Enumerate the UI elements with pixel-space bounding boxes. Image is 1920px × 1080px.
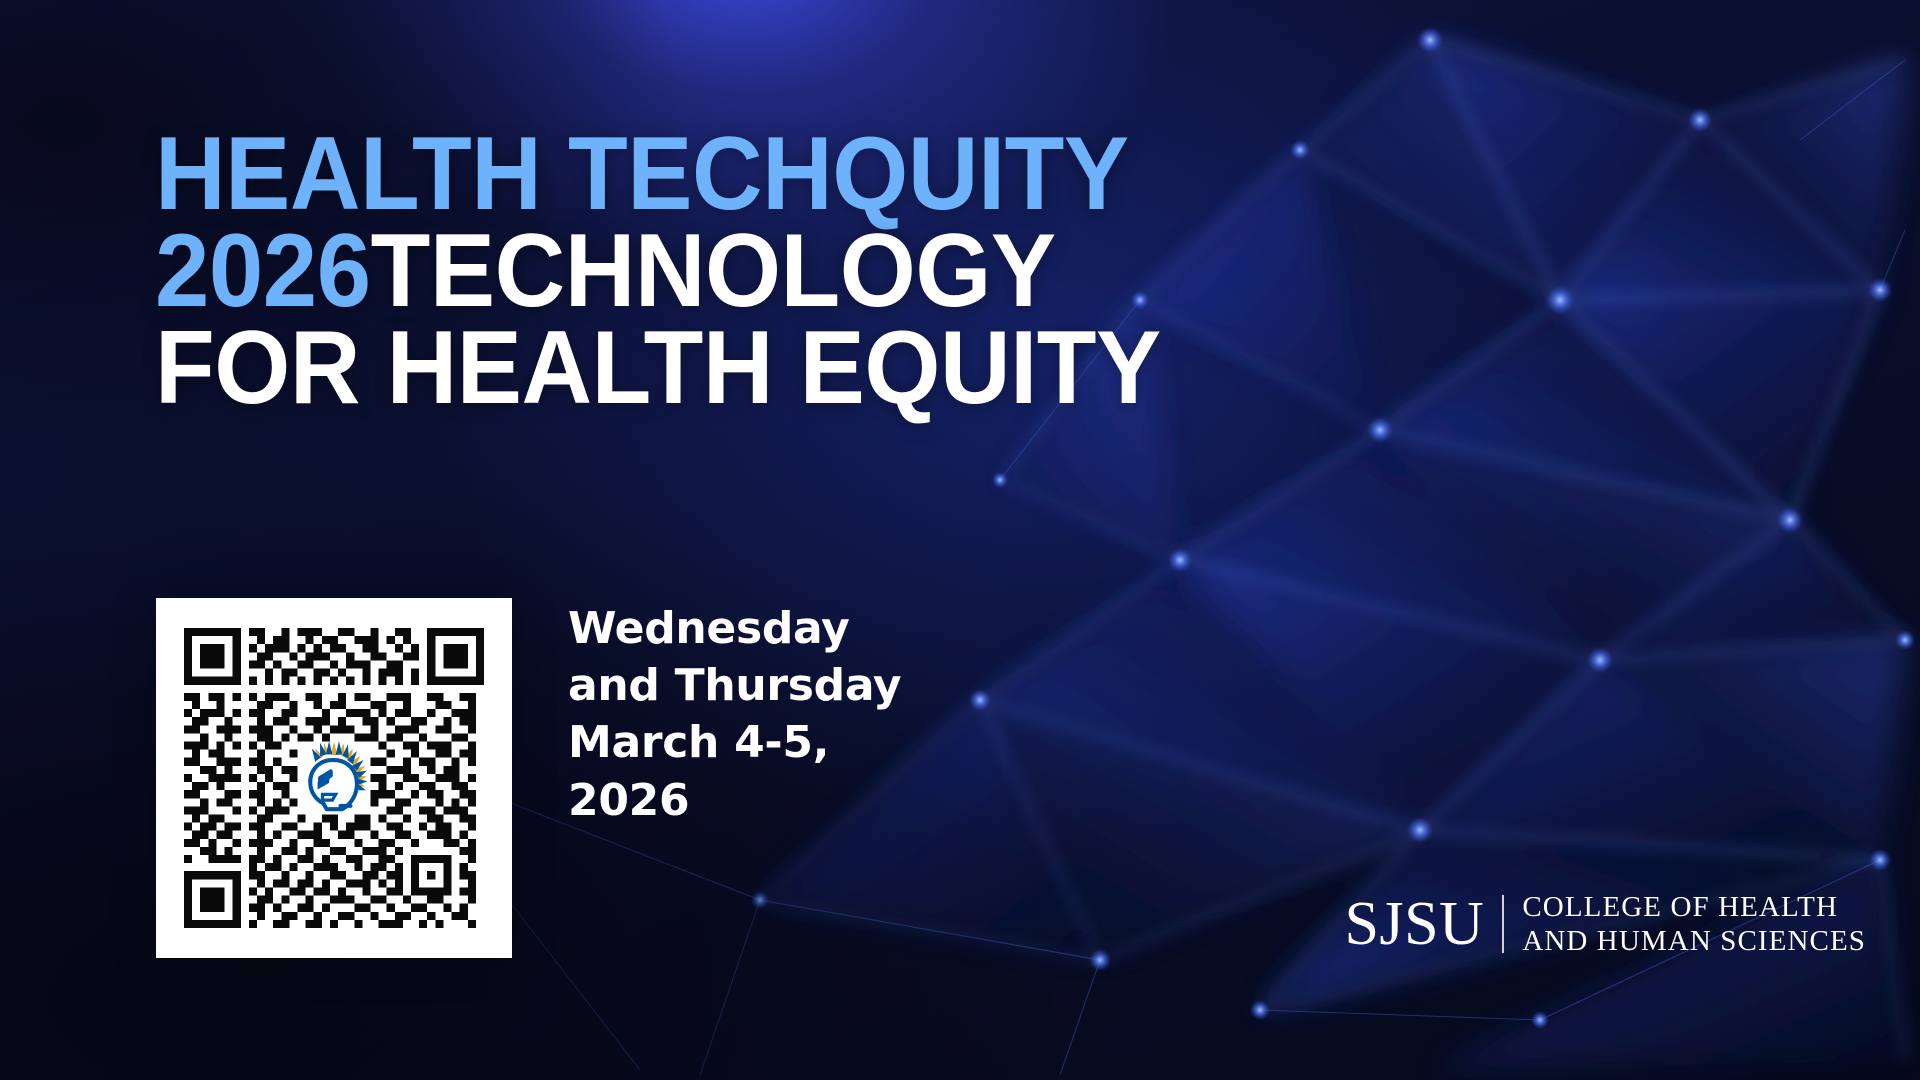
event-dates: Wednesday and Thursday March 4-5, 2026: [568, 600, 968, 829]
event-poster: HEALTH TECHQUITY 2026TECHNOLOGY FOR HEAL…: [0, 0, 1920, 1080]
date-line: Wednesday: [568, 600, 968, 657]
college-unit-line-2: AND HUMAN SCIENCES: [1522, 924, 1866, 958]
college-unit-line-1: COLLEGE OF HEALTH: [1522, 890, 1866, 924]
date-line: March 4-5,: [568, 714, 968, 771]
sjsu-college-lockup: SJSU COLLEGE OF HEALTH AND HUMAN SCIENCE…: [1344, 890, 1866, 958]
lockup-divider: [1502, 895, 1504, 953]
qr-code[interactable]: [156, 598, 512, 958]
headline-line-3-plain: FOR HEALTH EQUITY: [155, 310, 1161, 426]
date-line: 2026: [568, 772, 968, 829]
page-title: HEALTH TECHQUITY 2026TECHNOLOGY FOR HEAL…: [155, 126, 1225, 418]
headline-line-3: FOR HEALTH EQUITY: [155, 320, 1161, 417]
sjsu-wordmark: SJSU: [1344, 893, 1502, 955]
headline-line-2: 2026TECHNOLOGY: [155, 223, 1161, 320]
headline-line-1: HEALTH TECHQUITY: [155, 126, 1161, 223]
date-line: and Thursday: [568, 657, 968, 714]
college-unit-name: COLLEGE OF HEALTH AND HUMAN SCIENCES: [1522, 890, 1866, 958]
sjsu-spartan-logo-icon: [293, 737, 375, 819]
